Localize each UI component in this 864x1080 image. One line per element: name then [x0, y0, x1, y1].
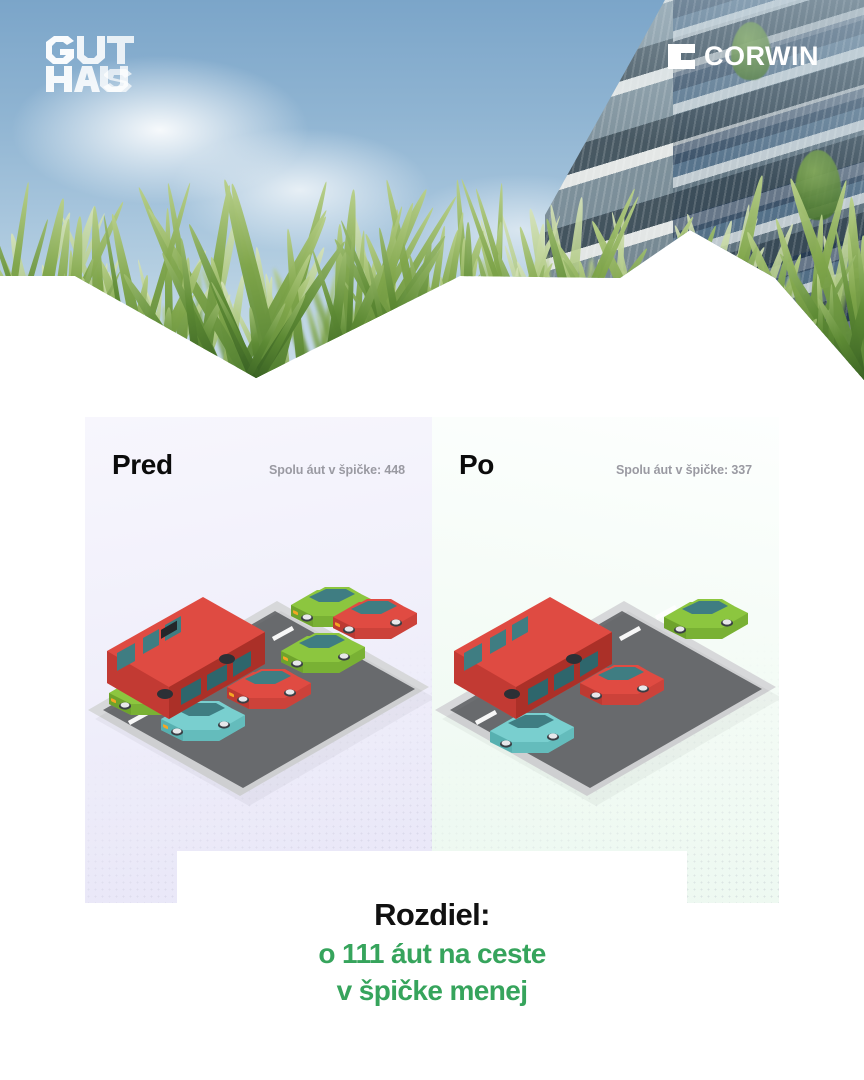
foliage-leaf	[6, 284, 28, 380]
corwin-logo[interactable]: CORWIN	[668, 43, 819, 70]
foliage-leaf	[460, 271, 505, 380]
foliage-leaf	[681, 317, 710, 380]
foliage-leaf	[505, 290, 527, 380]
foliage-leaf	[10, 308, 45, 380]
foliage-leaf	[476, 264, 557, 380]
card-pred: Pred Spolu áut v špičke: 448	[85, 417, 432, 903]
foliage-leaf	[591, 215, 697, 380]
corwin-mark-icon	[668, 44, 695, 69]
foliage-leaf	[435, 282, 471, 380]
foliage-leaf	[449, 292, 462, 380]
foliage-leaf	[715, 286, 742, 380]
foliage-leaf	[624, 320, 661, 380]
foliage-leaf	[664, 245, 746, 380]
foliage-leaf	[0, 297, 5, 380]
foliage-leaf	[543, 304, 566, 380]
foliage-leaf	[524, 281, 535, 380]
foliage-leaf	[533, 293, 585, 380]
foliage-leaf	[589, 303, 603, 380]
foliage-leaf	[572, 305, 621, 380]
foliage-leaf	[0, 261, 57, 380]
foliage-leaf	[546, 264, 566, 380]
foliage-leaf	[639, 262, 712, 380]
foliage-leaf	[629, 279, 645, 380]
card-po-title: Po	[459, 451, 494, 479]
foliage-leaf	[619, 264, 643, 380]
foliage-leaf	[678, 219, 737, 380]
foliage-leaf	[11, 291, 26, 380]
foliage-foreground	[0, 150, 864, 380]
footer-highlight-line1: o 111 áut na ceste	[0, 936, 864, 973]
foliage-leaf	[648, 283, 664, 380]
foliage-leaf	[606, 304, 624, 380]
foliage-leaf	[767, 315, 822, 380]
foliage-leaf	[122, 305, 168, 380]
foliage-leaf	[0, 286, 24, 380]
foliage-leaf	[638, 305, 651, 380]
foliage-leaf	[57, 320, 93, 380]
footer-title: Rozdiel:	[0, 895, 864, 936]
foliage-leaf	[600, 266, 640, 380]
foliage-leaf	[584, 277, 639, 380]
foliage-leaf	[652, 290, 706, 380]
foliage-leaf	[594, 265, 653, 380]
foliage-leaf	[26, 283, 69, 380]
foliage-leaf	[681, 280, 692, 380]
foliage-leaf	[417, 305, 440, 380]
foliage-leaf	[683, 287, 735, 380]
foliage-leaf	[0, 260, 8, 380]
foliage-leaf	[477, 235, 530, 380]
foliage-leaf	[584, 276, 595, 380]
foliage-leaf	[648, 224, 721, 380]
foliage-leaf	[598, 278, 640, 380]
foliage-leaf	[392, 302, 408, 380]
foliage-leaf	[437, 276, 455, 380]
foliage-leaf	[718, 280, 747, 380]
foliage-leaf	[728, 272, 758, 380]
foliage-leaf	[506, 267, 521, 380]
foliage-leaf	[736, 283, 796, 380]
foliage-leaf	[658, 280, 703, 380]
foliage-leaf	[38, 263, 67, 380]
foliage-leaf	[606, 267, 653, 380]
foliage-leaf	[537, 265, 603, 380]
foliage-leaf	[448, 301, 475, 380]
foliage-leaf	[425, 285, 481, 380]
foliage-leaf	[61, 281, 108, 380]
foliage-leaf	[572, 275, 649, 380]
foliage-leaf	[616, 319, 647, 380]
foliage-leaf	[587, 219, 675, 380]
foliage-leaf	[653, 300, 666, 380]
card-po-header: Po Spolu áut v špičke: 337	[432, 451, 779, 479]
card-pred-title: Pred	[112, 451, 173, 479]
foliage-leaf	[463, 222, 474, 380]
foliage-leaf	[5, 232, 50, 380]
card-po: Po Spolu áut v špičke: 337	[432, 417, 779, 903]
foliage-leaf	[54, 273, 68, 380]
footer-highlight-line2: v špičke menej	[0, 973, 864, 1010]
foliage-leaf	[498, 291, 529, 380]
foliage-leaf	[613, 315, 621, 380]
foliage-leaf	[695, 300, 722, 380]
foliage-leaf	[629, 318, 674, 380]
foliage-leaf	[2, 263, 9, 380]
foliage-leaf	[467, 285, 505, 380]
traffic-illustration-po	[432, 567, 779, 827]
foliage-leaf	[42, 299, 55, 380]
foliage-leaf	[669, 276, 713, 380]
foliage-leaf	[710, 317, 724, 380]
foliage-leaf	[556, 314, 599, 380]
foliage-leaf	[491, 183, 505, 380]
foliage-leaf	[618, 268, 693, 380]
card-po-metric: Spolu áut v špičke: 337	[616, 463, 752, 477]
foliage-leaf	[555, 295, 593, 380]
foliage-leaf	[437, 310, 462, 380]
infographic-page: CORWIN Pred Spolu áut v špičke: 448	[0, 0, 864, 1080]
foliage-leaf	[555, 197, 587, 380]
foliage-leaf	[671, 245, 707, 380]
foliage-leaf	[573, 286, 586, 380]
foliage-leaf	[520, 303, 545, 380]
foliage-leaf	[699, 244, 762, 380]
foliage-leaf	[550, 288, 613, 380]
foliage-leaf	[0, 268, 53, 380]
card-pred-header: Pred Spolu áut v špičke: 448	[85, 451, 432, 479]
traffic-illustration-pred	[85, 567, 432, 827]
foliage-leaf	[418, 296, 465, 380]
foliage-leaf	[648, 238, 686, 380]
foliage-leaf	[656, 270, 691, 380]
foliage-leaf	[60, 288, 111, 380]
foliage-leaf	[707, 174, 768, 380]
balcony-plant-icon	[695, 250, 747, 330]
foliage-leaf	[565, 281, 618, 380]
foliage-leaf	[670, 223, 741, 380]
foliage-leaf	[477, 260, 519, 380]
foliage-leaf	[0, 182, 33, 380]
card-pred-metric: Spolu áut v špičke: 448	[269, 463, 405, 477]
foliage-leaf	[80, 301, 117, 380]
foliage-leaf	[542, 187, 638, 380]
foliage-leaf	[111, 306, 150, 380]
foliage-leaf	[14, 294, 61, 380]
guthaus-logo[interactable]	[44, 34, 136, 94]
foliage-leaf	[705, 269, 767, 380]
foliage-leaf	[509, 264, 548, 380]
foliage-leaf	[619, 224, 692, 380]
foliage-leaf	[0, 219, 50, 380]
foliage-leaf	[625, 283, 648, 380]
foliage-leaf	[533, 288, 548, 380]
foliage-leaf	[0, 267, 45, 380]
foliage-leaf	[573, 298, 627, 380]
foliage-leaf	[564, 310, 574, 380]
corwin-wordmark: CORWIN	[704, 43, 819, 70]
foliage-leaf	[411, 315, 426, 380]
foliage-leaf	[478, 260, 556, 380]
comparison-cards: Pred Spolu áut v špičke: 448	[0, 417, 864, 907]
foliage-leaf	[578, 282, 633, 380]
footer-summary: Rozdiel: o 111 áut na ceste v špičke men…	[0, 895, 864, 1010]
foliage-leaf	[49, 298, 104, 380]
foliage-leaf	[752, 253, 806, 380]
foliage-leaf	[760, 302, 791, 380]
foliage-leaf	[0, 267, 48, 380]
foliage-leaf	[419, 287, 474, 380]
foliage-leaf	[541, 217, 596, 380]
foliage-leaf	[22, 271, 86, 380]
